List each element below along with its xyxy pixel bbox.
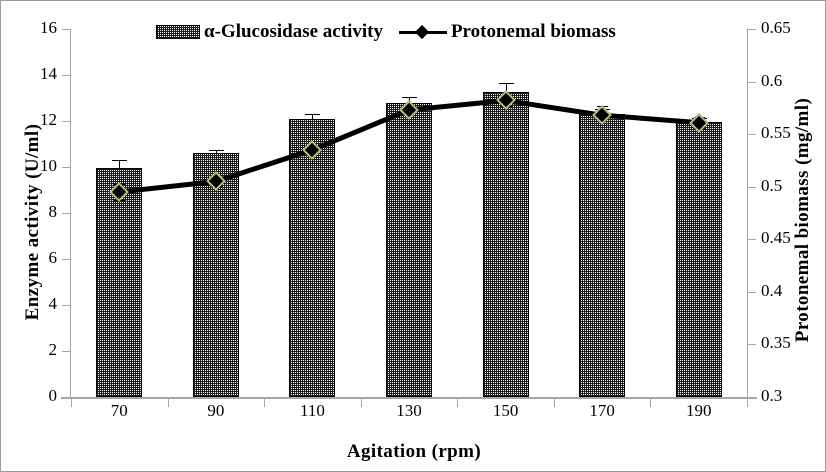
y-axis-left-tick-mark — [62, 213, 70, 214]
x-axis-tick-mark — [747, 398, 748, 407]
error-bar-glucosidase — [119, 160, 120, 168]
x-axis-tick-label: 90 — [181, 401, 251, 421]
chart-figure: α-Glucosidase activity Protonemal biomas… — [0, 0, 826, 472]
x-axis-tick-label: 170 — [567, 401, 637, 421]
y-axis-left-tick-label: 16 — [0, 18, 57, 38]
y-axis-left-tick-label: 6 — [0, 248, 57, 268]
x-axis-tick-mark — [168, 398, 169, 407]
diamond-line-icon — [399, 25, 447, 39]
y-axis-left-tick-label: 14 — [0, 64, 57, 84]
y-axis-left-tick-label: 2 — [0, 340, 57, 360]
bar-glucosidase — [96, 168, 142, 397]
x-axis-tick-mark — [361, 398, 362, 407]
y-axis-left-tick-label: 12 — [0, 110, 57, 130]
x-axis-tick-mark — [650, 398, 651, 407]
x-axis-tick-label: 150 — [471, 401, 541, 421]
y-axis-left-tick-label: 0 — [0, 386, 57, 406]
chart-legend: α-Glucosidase activity Protonemal biomas… — [156, 21, 616, 43]
y-axis-right-tick-label: 0.3 — [761, 386, 821, 406]
y-axis-left-tick-mark — [62, 351, 70, 352]
y-axis-right-tick-mark — [748, 292, 756, 293]
error-bar-cap-glucosidase — [499, 83, 514, 84]
bar-glucosidase — [386, 103, 432, 397]
y-axis-left-tick-label: 8 — [0, 202, 57, 222]
y-axis-left-tick-mark — [62, 259, 70, 260]
y-axis-right-tick-label: 0.55 — [761, 123, 821, 143]
legend-entry-glucosidase: α-Glucosidase activity — [156, 21, 383, 43]
x-axis-tick-mark — [457, 398, 458, 407]
error-bar-cap-glucosidase — [305, 114, 320, 115]
y-axis-right-tick-label: 0.5 — [761, 176, 821, 196]
error-bar-cap-glucosidase — [112, 160, 127, 161]
bar-glucosidase — [483, 92, 529, 397]
y-axis-left-tick-mark — [62, 75, 70, 76]
y-axis-right-tick-mark — [748, 82, 756, 83]
legend-label-biomass: Protonemal biomass — [451, 21, 616, 43]
x-axis-tick-label: 190 — [664, 401, 734, 421]
y-axis-right-tick-mark — [748, 397, 756, 398]
error-bar-cap-biomass — [597, 125, 608, 126]
bar-glucosidase — [676, 122, 722, 397]
error-bar-cap-biomass — [307, 137, 318, 138]
y-axis-right-tick-label: 0.65 — [761, 18, 821, 38]
y-axis-right-tick-label: 0.4 — [761, 281, 821, 301]
y-axis-right-title: Protonemal biomass (mg/ml) — [792, 70, 814, 370]
y-axis-right-tick-mark — [748, 239, 756, 240]
y-axis-left-tick-label: 10 — [0, 156, 57, 176]
y-axis-left-tick-mark — [62, 305, 70, 306]
y-axis-left-tick-mark — [62, 29, 70, 30]
y-axis-right-line — [747, 29, 748, 398]
x-axis-tick-label: 110 — [277, 401, 347, 421]
error-bar-cap-biomass — [404, 97, 415, 98]
y-axis-right-tick-label: 0.45 — [761, 228, 821, 248]
x-axis-tick-label: 130 — [374, 401, 444, 421]
error-bar-cap-biomass — [404, 123, 415, 124]
y-axis-left-tick-mark — [62, 397, 70, 398]
legend-label-glucosidase: α-Glucosidase activity — [204, 21, 383, 43]
x-axis-title: Agitation (rpm) — [1, 441, 826, 463]
y-axis-right-tick-mark — [748, 29, 756, 30]
x-axis-tick-mark — [264, 398, 265, 407]
y-axis-left-line — [70, 29, 71, 398]
legend-entry-biomass: Protonemal biomass — [399, 21, 616, 43]
y-axis-left-tick-mark — [62, 121, 70, 122]
x-axis-tick-label: 70 — [84, 401, 154, 421]
y-axis-right-tick-mark — [748, 134, 756, 135]
y-axis-right-tick-mark — [748, 187, 756, 188]
pattern-swatch-icon — [156, 25, 200, 39]
bar-glucosidase — [579, 114, 625, 397]
y-axis-right-tick-label: 0.6 — [761, 71, 821, 91]
error-bar-cap-glucosidase — [209, 150, 224, 151]
x-axis-tick-mark — [554, 398, 555, 407]
x-axis-tick-mark — [71, 398, 72, 407]
y-axis-right-tick-label: 0.35 — [761, 333, 821, 353]
y-axis-left-tick-mark — [62, 167, 70, 168]
error-bar-cap-biomass — [307, 163, 318, 164]
x-axis-line — [61, 397, 757, 399]
y-axis-left-tick-label: 4 — [0, 294, 57, 314]
y-axis-right-tick-mark — [748, 344, 756, 345]
